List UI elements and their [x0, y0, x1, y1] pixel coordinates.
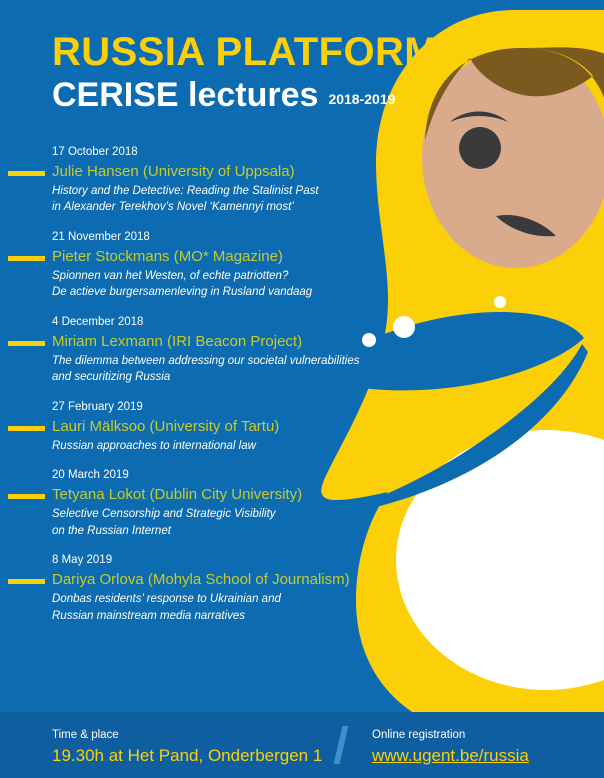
dash-marker-icon [8, 579, 45, 584]
lecture-topic-line2: Russian mainstream media narratives [52, 608, 420, 625]
lecture-topic-line2: on the Russian Internet [52, 523, 420, 540]
lecture-speaker: Dariya Orlova (Mohyla School of Journali… [52, 571, 420, 590]
doll-mouth [496, 215, 556, 236]
doll-eyebrow [450, 112, 508, 123]
poster-footer: Time & place 19.30h at Het Pand, Onderbe… [0, 712, 604, 778]
list-item: 20 March 2019 Tetyana Lokot (Dublin City… [0, 468, 420, 539]
lecture-topic-line1: Selective Censorship and Strategic Visib… [52, 506, 420, 523]
registration-label: Online registration [372, 728, 529, 744]
list-item: 27 February 2019 Lauri Mälksoo (Universi… [0, 400, 420, 454]
poster-header: RUSSIA PLATFORM CERISE lectures 2018-201… [52, 32, 472, 112]
lecture-topic-line1: History and the Detective: Reading the S… [52, 183, 420, 200]
lecture-date: 4 December 2018 [52, 315, 420, 330]
lecture-speaker: Pieter Stockmans (MO* Magazine) [52, 248, 420, 267]
dash-marker-icon [8, 341, 45, 346]
dash-marker-icon [8, 171, 45, 176]
lecture-topic-line2: De actieve burgersamenleving in Rusland … [52, 284, 420, 301]
doll-apron [396, 430, 604, 690]
time-place-value: 19.30h at Het Pand, Onderbergen 1 [52, 746, 322, 766]
dash-marker-icon [8, 256, 45, 261]
list-item: 4 December 2018 Miriam Lexmann (IRI Beac… [0, 315, 420, 386]
lecture-topic-line1: Spionnen van het Westen, of echte patrio… [52, 268, 420, 285]
dash-marker-icon [8, 426, 45, 431]
lecture-date: 17 October 2018 [52, 145, 420, 160]
lecture-date: 20 March 2019 [52, 468, 420, 483]
lecture-topic-line2: in Alexander Terekhov’s Novel ‘Kamennyi … [52, 199, 420, 216]
doll-eye [459, 127, 501, 169]
lecture-topic-line1: The dilemma between addressing our socie… [52, 353, 420, 370]
lecture-speaker: Lauri Mälksoo (University of Tartu) [52, 418, 420, 437]
lecture-topic-line1: Russian approaches to international law [52, 438, 420, 455]
footer-inner: Time & place 19.30h at Het Pand, Onderbe… [0, 712, 604, 778]
poster-canvas: RUSSIA PLATFORM CERISE lectures 2018-201… [0, 0, 604, 778]
slash-divider-icon [334, 726, 349, 764]
academic-year-badge: 2018-2019 [328, 91, 395, 112]
lecture-speaker: Tetyana Lokot (Dublin City University) [52, 486, 420, 505]
lecture-date: 21 November 2018 [52, 230, 420, 245]
lecture-speaker: Julie Hansen (University of Uppsala) [52, 163, 420, 182]
lecture-topic-line1: Donbas residents’ response to Ukrainian … [52, 591, 420, 608]
page-subtitle: CERISE lectures [52, 78, 318, 112]
list-item: 21 November 2018 Pieter Stockmans (MO* M… [0, 230, 420, 301]
lecture-topic-line2: and securitizing Russia [52, 369, 420, 386]
lecture-speaker: Miriam Lexmann (IRI Beacon Project) [52, 333, 420, 352]
dash-marker-icon [8, 494, 45, 499]
time-place-label: Time & place [52, 728, 322, 744]
list-item: 8 May 2019 Dariya Orlova (Mohyla School … [0, 553, 420, 624]
doll-leaf-dot-tiny [494, 296, 506, 308]
page-title: RUSSIA PLATFORM [52, 32, 472, 72]
subtitle-row: CERISE lectures 2018-2019 [52, 78, 472, 112]
lecture-date: 8 May 2019 [52, 553, 420, 568]
registration-url-link[interactable]: www.ugent.be/russia [372, 746, 529, 766]
time-place-block: Time & place 19.30h at Het Pand, Onderbe… [52, 728, 322, 766]
list-item: 17 October 2018 Julie Hansen (University… [0, 145, 420, 216]
lecture-list: 17 October 2018 Julie Hansen (University… [0, 145, 420, 639]
registration-block: Online registration www.ugent.be/russia [372, 728, 529, 766]
lecture-date: 27 February 2019 [52, 400, 420, 415]
